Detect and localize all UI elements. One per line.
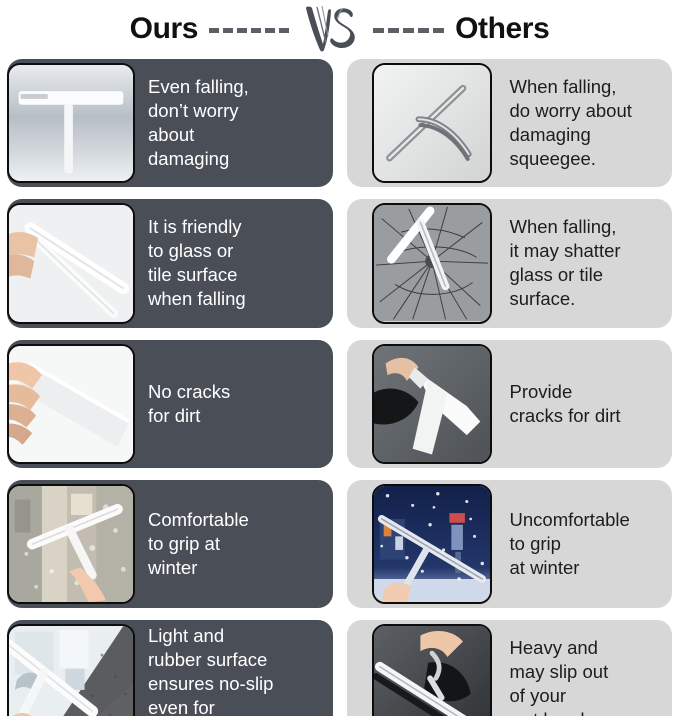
- ours-card: Comfortable to grip at winter: [7, 480, 333, 608]
- ours-caption: No cracks for dirt: [135, 340, 333, 468]
- caption-line: Heavy and: [510, 636, 665, 660]
- product-thumbnail: [7, 63, 135, 183]
- product-thumbnail: [7, 203, 135, 323]
- right-dash-divider: [373, 24, 444, 33]
- caption-line: damaging: [148, 147, 325, 171]
- caption-line: to glass or: [148, 239, 325, 263]
- others-caption: Provide cracks for dirt: [492, 340, 673, 468]
- ours-caption: It is friendly to glass or tile surface …: [135, 199, 333, 327]
- caption-line: When falling,: [510, 75, 665, 99]
- ours-card: No cracks for dirt: [7, 340, 333, 468]
- caption-line: cracks for dirt: [510, 404, 665, 428]
- caption-line: Even falling,: [148, 75, 325, 99]
- ours-card: It is friendly to glass or tile surface …: [7, 199, 333, 327]
- caption-line: glass or tile: [510, 263, 665, 287]
- caption-line: tile surface: [148, 263, 325, 287]
- product-thumbnail: [372, 624, 492, 716]
- others-card: Heavy and may slip out of your wet hand: [347, 620, 673, 716]
- caption-line: may slip out: [510, 660, 665, 684]
- others-column-cell: Provide cracks for dirt: [340, 340, 679, 468]
- others-column-cell: When falling, it may shatter glass or ti…: [340, 199, 679, 327]
- caption-line: damaging: [510, 123, 665, 147]
- comparison-row: No cracks for dirt: [0, 334, 679, 474]
- ours-card: Light and rubber surface ensures no-slip…: [7, 620, 333, 716]
- caption-line: even for: [148, 696, 325, 716]
- caption-line: wet hand: [510, 708, 665, 716]
- comparison-grid: Even falling, don’t worry about damaging: [0, 53, 679, 716]
- others-caption: Heavy and may slip out of your wet hand: [492, 620, 673, 716]
- comparison-header: Ours Others: [0, 0, 679, 53]
- caption-line: It is friendly: [148, 215, 325, 239]
- product-thumbnail: [7, 484, 135, 604]
- comparison-row: Light and rubber surface ensures no-slip…: [0, 614, 679, 716]
- ours-column-cell: Comfortable to grip at winter: [0, 480, 340, 608]
- caption-line: Light and: [148, 624, 325, 648]
- ours-column-cell: Light and rubber surface ensures no-slip…: [0, 620, 340, 716]
- product-thumbnail: [372, 203, 492, 323]
- product-thumbnail: [372, 63, 492, 183]
- caption-line: about: [148, 123, 325, 147]
- vs-badge-icon: [300, 5, 362, 53]
- caption-line: when falling: [148, 287, 325, 311]
- ours-caption: Comfortable to grip at winter: [135, 480, 333, 608]
- ours-caption: Even falling, don’t worry about damaging: [135, 59, 333, 187]
- others-card: When falling, it may shatter glass or ti…: [347, 199, 673, 327]
- caption-line: do worry about: [510, 99, 665, 123]
- caption-line: ensures no-slip: [148, 672, 325, 696]
- caption-line: rubber surface: [148, 648, 325, 672]
- others-caption: When falling, it may shatter glass or ti…: [492, 199, 673, 327]
- comparison-row: It is friendly to glass or tile surface …: [0, 193, 679, 333]
- others-caption: Uncomfortable to grip at winter: [492, 480, 673, 608]
- product-thumbnail: [372, 484, 492, 604]
- ours-caption: Light and rubber surface ensures no-slip…: [135, 620, 333, 716]
- caption-line: When falling,: [510, 215, 665, 239]
- ours-column-cell: No cracks for dirt: [0, 340, 340, 468]
- caption-line: don’t worry: [148, 99, 325, 123]
- others-card: Provide cracks for dirt: [347, 340, 673, 468]
- others-caption: When falling, do worry about damaging sq…: [492, 59, 673, 187]
- ours-column-cell: Even falling, don’t worry about damaging: [0, 59, 340, 187]
- caption-line: of your: [510, 684, 665, 708]
- product-thumbnail: [7, 344, 135, 464]
- others-card: When falling, do worry about damaging sq…: [347, 59, 673, 187]
- caption-line: it may shatter: [510, 239, 665, 263]
- comparison-row: Even falling, don’t worry about damaging: [0, 53, 679, 193]
- others-title: Others: [455, 14, 549, 44]
- caption-line: to grip at: [148, 532, 325, 556]
- caption-line: winter: [148, 556, 325, 580]
- caption-line: for dirt: [148, 404, 325, 428]
- others-column-cell: Heavy and may slip out of your wet hand: [340, 620, 679, 716]
- caption-line: No cracks: [148, 380, 325, 404]
- caption-line: Uncomfortable: [510, 508, 665, 532]
- caption-line: at winter: [510, 556, 665, 580]
- caption-line: Comfortable: [148, 508, 325, 532]
- caption-line: to grip: [510, 532, 665, 556]
- caption-line: Provide: [510, 380, 665, 404]
- ours-column-cell: It is friendly to glass or tile surface …: [0, 199, 340, 327]
- others-column-cell: Uncomfortable to grip at winter: [340, 480, 679, 608]
- others-card: Uncomfortable to grip at winter: [347, 480, 673, 608]
- product-thumbnail: [372, 344, 492, 464]
- left-dash-divider: [209, 24, 289, 33]
- ours-card: Even falling, don’t worry about damaging: [7, 59, 333, 187]
- caption-line: surface.: [510, 287, 665, 311]
- others-column-cell: When falling, do worry about damaging sq…: [340, 59, 679, 187]
- caption-line: squeegee.: [510, 147, 665, 171]
- product-thumbnail: [7, 624, 135, 716]
- comparison-row: Comfortable to grip at winter: [0, 474, 679, 614]
- ours-title: Ours: [130, 14, 198, 44]
